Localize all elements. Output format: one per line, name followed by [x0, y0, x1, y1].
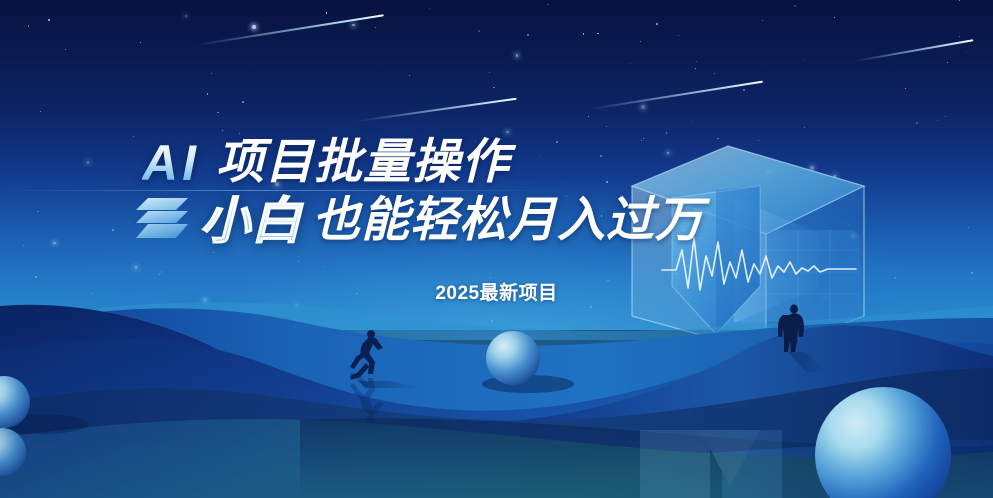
promo-banner: AI 项目批量操作	[0, 0, 993, 498]
small-sphere	[486, 331, 540, 385]
subtitle-text: 2025最新项目	[0, 278, 993, 305]
dune-landscape	[0, 0, 993, 498]
light-streak	[0, 190, 560, 191]
